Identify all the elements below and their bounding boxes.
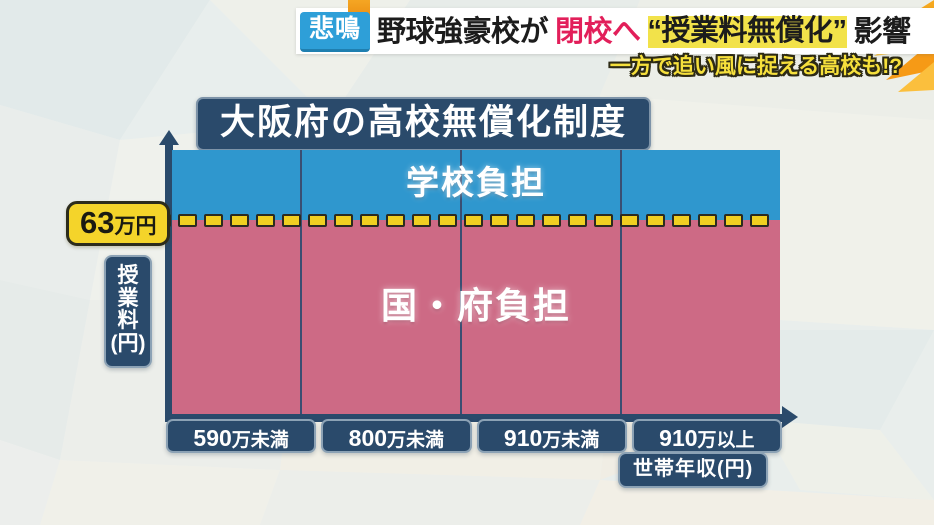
threshold-dash-segment <box>386 214 405 227</box>
threshold-dash-segment <box>672 214 691 227</box>
headline-badge: 悲鳴 <box>300 12 370 52</box>
screenshot-stage: 悲鳴 野球強豪校が 閉校へ “授業料無償化” 影響 一方で追い風に捉える高校も!… <box>0 0 934 525</box>
threshold-dash-segment <box>594 214 613 227</box>
x-axis-label: 世帯年収(円) <box>618 452 768 488</box>
headline-part-1: 野球強豪校が <box>377 18 548 47</box>
category-number: 590 <box>193 425 231 451</box>
threshold-dash-segment <box>308 214 327 227</box>
threshold-dash-segment <box>204 214 223 227</box>
threshold-value-badge: 63万円 <box>66 201 170 246</box>
y-axis-label-char-4: (円) <box>108 333 148 356</box>
category-suffix: 万未満 <box>542 430 599 451</box>
threshold-dash-segment <box>750 214 769 227</box>
headline-part-4: 影響 <box>854 18 911 47</box>
threshold-dash-segment <box>230 214 249 227</box>
threshold-dash-segment <box>412 214 431 227</box>
news-headline: 悲鳴 野球強豪校が 閉校へ “授業料無償化” 影響 <box>300 13 911 51</box>
threshold-dash-segment <box>724 214 743 227</box>
threshold-dash-segment <box>568 214 587 227</box>
news-subheadline: 一方で追い風に捉える高校も!? <box>596 56 916 77</box>
threshold-dash-segment <box>256 214 275 227</box>
chart-label-public-burden: 国・府負担 <box>172 288 780 324</box>
chart-title: 大阪府の高校無償化制度 <box>196 97 651 151</box>
threshold-dash-segment <box>464 214 483 227</box>
threshold-dash-segment <box>516 214 535 227</box>
threshold-number: 63 <box>80 205 114 240</box>
category-suffix: 万未満 <box>232 430 289 451</box>
y-axis-label-char-2: 業 <box>108 288 148 311</box>
chart-label-school-burden: 学校負担 <box>172 166 780 199</box>
category-suffix: 万以上 <box>698 430 755 451</box>
category-number: 800 <box>349 425 387 451</box>
x-axis-category-2: 800万未満 <box>321 419 471 453</box>
category-number: 910 <box>504 425 542 451</box>
x-axis-category-1: 590万未満 <box>166 419 316 453</box>
x-axis-category-3: 910万未満 <box>477 419 627 453</box>
chart-plot-area: 学校負担 国・府負担 <box>172 150 780 414</box>
threshold-dash-segment <box>490 214 509 227</box>
threshold-unit: 万円 <box>114 215 156 238</box>
threshold-dash-segment <box>282 214 301 227</box>
x-axis-category-list: 590万未満800万未満910万未満910万以上 <box>166 419 782 453</box>
threshold-dash-segment <box>620 214 639 227</box>
threshold-dash-segment <box>360 214 379 227</box>
threshold-dash-segment <box>698 214 717 227</box>
threshold-dash-segment <box>542 214 561 227</box>
threshold-dashed-line <box>152 214 788 227</box>
headline-part-2: 閉校へ <box>555 18 641 47</box>
y-axis-label-char-1: 授 <box>108 265 148 288</box>
x-axis-arrowhead <box>782 406 798 428</box>
threshold-dash-segment <box>178 214 197 227</box>
threshold-dash-segment <box>646 214 665 227</box>
category-suffix: 万未満 <box>387 430 444 451</box>
x-axis-category-4: 910万以上 <box>632 419 782 453</box>
y-axis-label-char-3: 料 <box>108 310 148 333</box>
category-number: 910 <box>659 425 697 451</box>
headline-part-3: “授業料無償化” <box>648 16 847 48</box>
y-axis-label: 授 業 料 (円) <box>104 255 152 368</box>
threshold-dash-segment <box>438 214 457 227</box>
threshold-dash-segment <box>334 214 353 227</box>
